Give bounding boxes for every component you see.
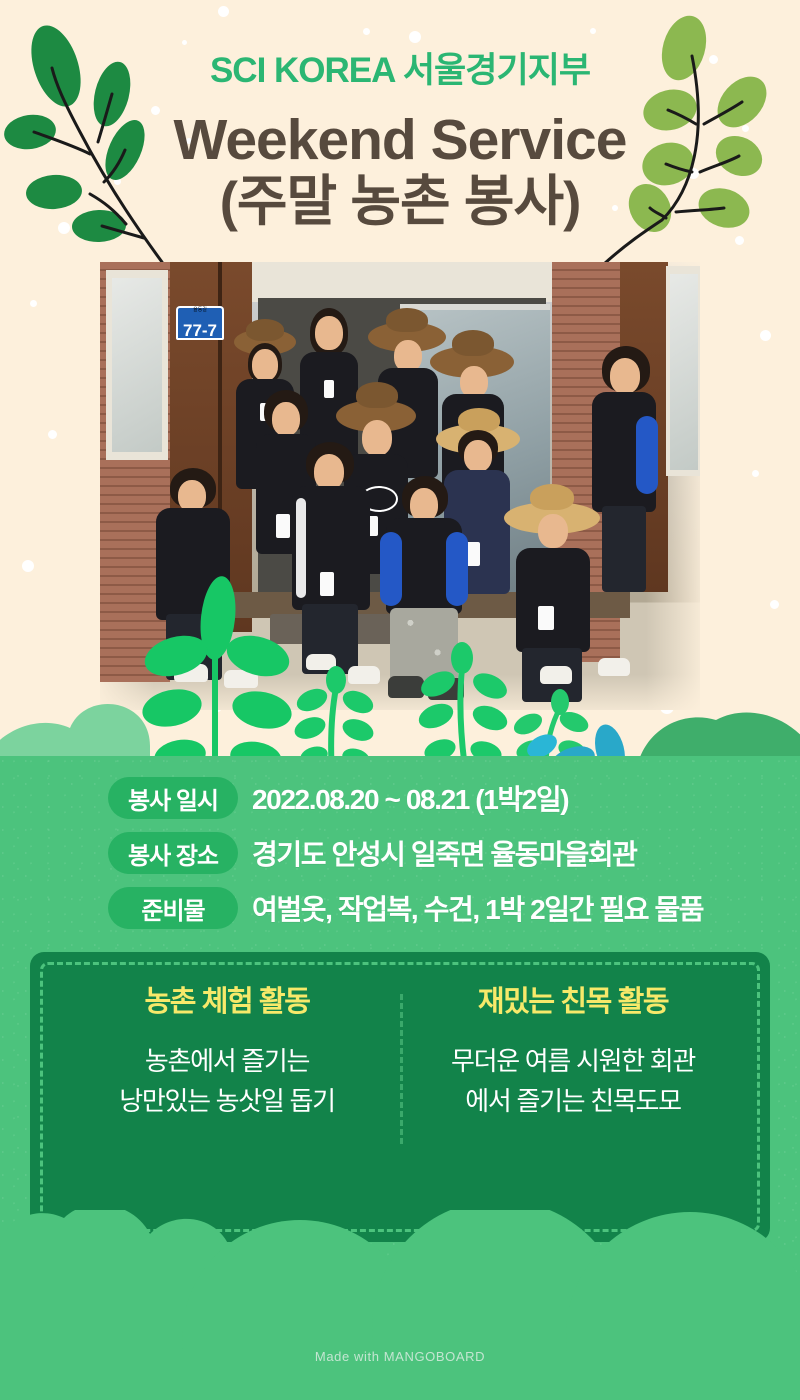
activity-column-farm: 농촌 체험 활동 농촌에서 즐기는 낭만있는 농삿일 돕기 <box>62 978 392 1121</box>
activity-line: 낭만있는 농삿일 돕기 <box>62 1082 392 1122</box>
photo-shoe <box>224 670 258 688</box>
event-details-list: 봉사 일시 2022.08.20 ~ 08.21 (1박2일) 봉사 장소 경기… <box>0 772 800 937</box>
activities-box: 농촌 체험 활동 농촌에서 즐기는 낭만있는 농삿일 돕기 재밌는 친목 활동 … <box>30 952 770 1242</box>
photo-shoe <box>598 658 630 676</box>
photo-shoe <box>306 654 336 670</box>
activity-line: 에서 즐기는 친목도모 <box>408 1082 738 1122</box>
decor-dot <box>735 236 744 245</box>
photo-doorway-frame <box>252 262 552 302</box>
detail-value: 경기도 안성시 일죽면 율동마을회관 <box>252 833 637 873</box>
activity-heading: 농촌 체험 활동 <box>62 978 392 1020</box>
decor-dot <box>22 560 34 572</box>
photo-window-left <box>112 278 162 452</box>
page-title: Weekend Service (주말 농촌 봉사) <box>0 110 800 231</box>
group-photo: 율동길 77-7 <box>100 262 700 710</box>
decor-dot <box>218 6 229 17</box>
photo-shoe <box>540 666 572 684</box>
decor-dot <box>48 430 57 439</box>
activity-column-social: 재밌는 친목 활동 무더운 여름 시원한 회관 에서 즐기는 친목도모 <box>408 978 738 1121</box>
photo-shoe <box>348 666 380 684</box>
detail-value: 2022.08.20 ~ 08.21 (1박2일) <box>252 778 568 818</box>
detail-value: 여벌옷, 작업복, 수건, 1박 2일간 필요 물품 <box>252 888 703 928</box>
activities-column-divider <box>400 994 403 1144</box>
decor-dot <box>363 28 370 35</box>
decor-dot <box>770 600 779 609</box>
detail-row-date: 봉사 일시 2022.08.20 ~ 08.21 (1박2일) <box>0 772 800 824</box>
organization-title: SCI KOREA 서울경기지부 <box>0 42 800 93</box>
plaque-caption: 율동길 <box>176 306 224 313</box>
photo-window-right <box>670 274 698 470</box>
bottom-scallop-decoration <box>0 1210 800 1400</box>
photo-shoe <box>174 664 208 682</box>
detail-row-items: 준비물 여벌옷, 작업복, 수건, 1박 2일간 필요 물품 <box>0 882 800 934</box>
decor-dot <box>30 300 37 307</box>
detail-label: 봉사 장소 <box>108 832 238 874</box>
title-line-english: Weekend Service <box>0 110 800 172</box>
detail-label: 봉사 일시 <box>108 777 238 819</box>
poster-canvas: SCI KOREA 서울경기지부 Weekend Service (주말 농촌 … <box>0 0 800 1400</box>
address-plaque: 율동길 77-7 <box>176 306 224 340</box>
detail-label: 준비물 <box>108 887 238 929</box>
activity-line: 농촌에서 즐기는 <box>62 1042 392 1082</box>
decor-dot <box>752 470 759 477</box>
activity-heading: 재밌는 친목 활동 <box>408 978 738 1020</box>
detail-row-location: 봉사 장소 경기도 안성시 일죽면 율동마을회관 <box>0 827 800 879</box>
plaque-number: 77-7 <box>176 313 224 339</box>
activity-line: 무더운 여름 시원한 회관 <box>408 1042 738 1082</box>
decor-dot <box>760 330 771 341</box>
group-photo-image: 율동길 77-7 <box>100 262 700 710</box>
title-line-korean: (주말 농촌 봉사) <box>0 172 800 231</box>
decor-dot <box>590 28 596 34</box>
decor-dot <box>651 97 665 111</box>
footer-credit: Made with MANGOBOARD <box>0 1349 800 1364</box>
photo-person <box>376 476 472 710</box>
